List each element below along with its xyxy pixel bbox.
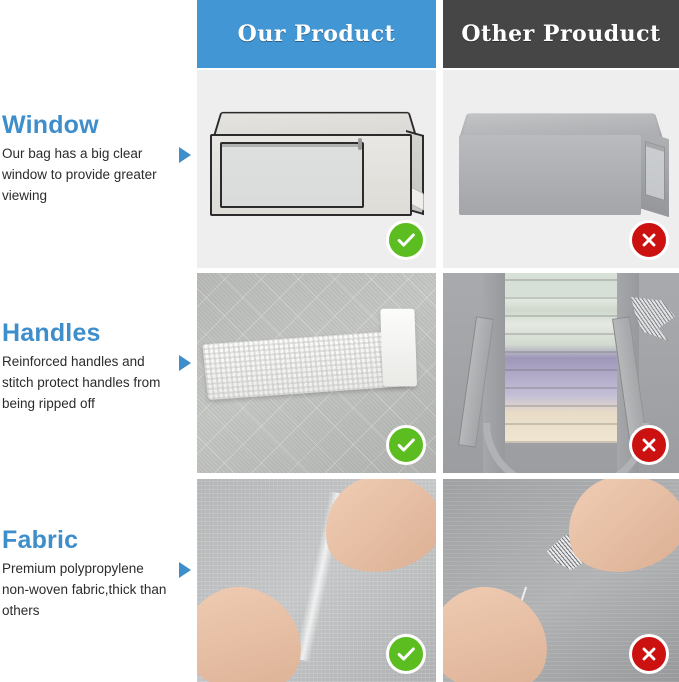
feature-title-window: Window bbox=[2, 112, 195, 138]
check-circle-icon bbox=[386, 634, 426, 674]
header-our-product: Our Product bbox=[197, 0, 436, 68]
hand-bottom-left bbox=[443, 575, 560, 682]
stored-towels bbox=[505, 273, 617, 443]
check-circle-icon bbox=[386, 220, 426, 260]
triangle-right-icon bbox=[179, 562, 191, 578]
x-circle-icon bbox=[629, 220, 669, 260]
photo-other-fabric bbox=[443, 479, 679, 682]
check-circle-icon bbox=[386, 425, 426, 465]
comparison-infographic: Our Product Other Prouduct Window Our ba… bbox=[0, 0, 679, 682]
bag-small-window bbox=[645, 141, 665, 201]
folded-textiles-left bbox=[222, 144, 292, 147]
triangle-right-icon bbox=[179, 147, 191, 163]
zipper-pull-icon bbox=[358, 138, 362, 150]
hand-bottom-left bbox=[197, 575, 314, 682]
feature-text-window: Window Our bag has a big clear window to… bbox=[0, 112, 195, 207]
bag-clear-window bbox=[220, 142, 364, 208]
triangle-right-icon bbox=[179, 355, 191, 371]
photo-our-window bbox=[197, 70, 436, 268]
feature-body-handles: Reinforced handles and stitch protect ha… bbox=[2, 352, 195, 415]
feature-title-fabric: Fabric bbox=[2, 527, 195, 553]
x-circle-icon bbox=[629, 634, 669, 674]
photo-our-fabric bbox=[197, 479, 436, 682]
feature-text-fabric: Fabric Premium polypropylene non-woven f… bbox=[0, 527, 195, 622]
photo-our-handle bbox=[197, 273, 436, 473]
feature-body-fabric-text: Premium polypropylene non-woven fabric,t… bbox=[2, 561, 166, 618]
folded-textiles-right bbox=[292, 144, 362, 147]
photo-other-handle bbox=[443, 273, 679, 473]
photo-other-window bbox=[443, 70, 679, 268]
feature-title-handles: Handles bbox=[2, 320, 195, 346]
x-circle-icon bbox=[629, 425, 669, 465]
header-other-product: Other Prouduct bbox=[443, 0, 679, 68]
handle-loop bbox=[483, 423, 649, 473]
header-our-product-label: Our Product bbox=[238, 21, 396, 47]
feature-body-handles-text: Reinforced handles and stitch protect ha… bbox=[2, 354, 160, 411]
feature-body-window-text: Our bag has a big clear window to provid… bbox=[2, 146, 157, 203]
feature-body-window: Our bag has a big clear window to provid… bbox=[2, 144, 195, 207]
feature-body-fabric: Premium polypropylene non-woven fabric,t… bbox=[2, 559, 195, 622]
bag-front-panel bbox=[459, 135, 641, 215]
feature-text-handles: Handles Reinforced handles and stitch pr… bbox=[0, 320, 195, 415]
header-other-product-label: Other Prouduct bbox=[461, 21, 660, 47]
